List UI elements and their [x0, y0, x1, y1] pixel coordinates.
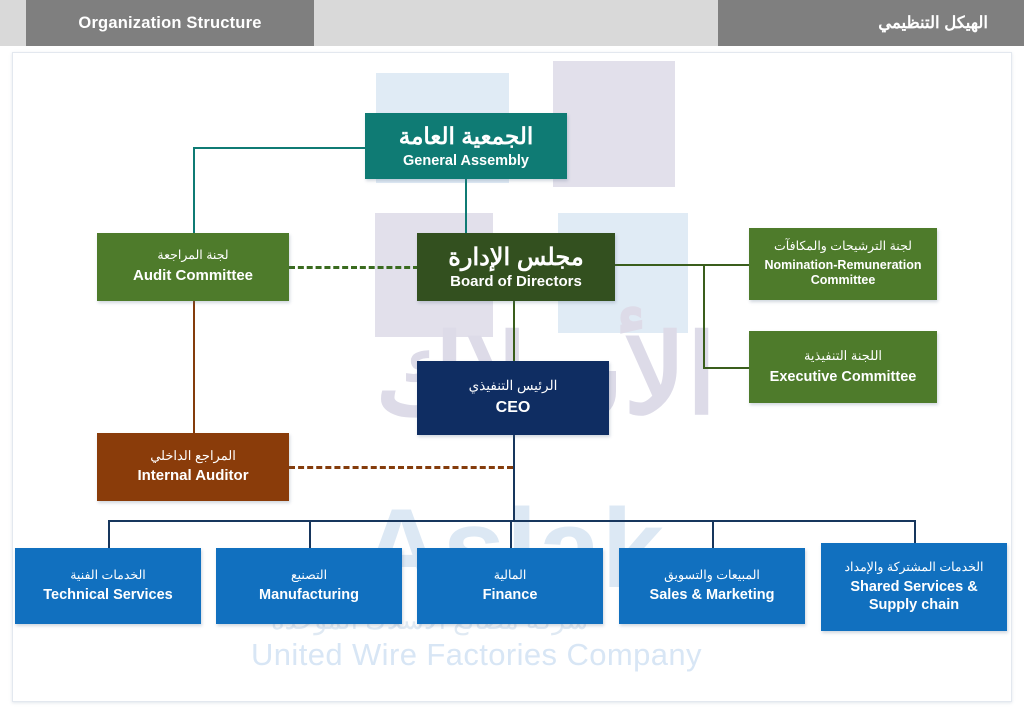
chart-canvas: الأسلاك Aslak شركة مصانع الأسلاك الموحدة…	[12, 52, 1012, 702]
node-general-assembly[interactable]: الجمعية العامة General Assembly	[365, 113, 567, 179]
connector-ga-left-vertical	[193, 147, 195, 235]
org-chart-page: Organization Structure الهيكل التنظيمي ا…	[0, 0, 1024, 714]
node-audit-committee[interactable]: لجنة المراجعة Audit Committee	[97, 233, 289, 301]
connector-drop-dept-2	[510, 520, 512, 548]
node-general-assembly-label-en: General Assembly	[403, 152, 529, 170]
node-executive-committee-label-en: Executive Committee	[770, 368, 917, 386]
connector-drop-dept-4	[914, 520, 916, 543]
node-general-assembly-label-ar: الجمعية العامة	[399, 122, 533, 151]
connector-ga-to-bod	[465, 179, 467, 233]
watermark-block-2	[553, 61, 675, 187]
node-department-technical-services[interactable]: الخدمات الفنية Technical Services	[15, 548, 201, 624]
node-department-2-label-ar: المالية	[494, 568, 527, 584]
node-nomination-remuneration-committee[interactable]: لجنة الترشيحات والمكافآت Nomination-Remu…	[749, 228, 937, 300]
node-internal-auditor-label-en: Internal Auditor	[137, 467, 248, 486]
node-ceo-label-ar: الرئيس التنفيذي	[469, 378, 558, 395]
node-internal-auditor[interactable]: المراجع الداخلي Internal Auditor	[97, 433, 289, 501]
node-board-of-directors[interactable]: مجلس الإدارة Board of Directors	[417, 233, 615, 301]
node-board-of-directors-label-en: Board of Directors	[450, 273, 582, 292]
node-department-sales-marketing[interactable]: المبيعات والتسويق Sales & Marketing	[619, 548, 805, 624]
connector-audit-to-auditor	[193, 301, 195, 435]
node-executive-committee-label-ar: اللجنة التنفيذية	[804, 348, 882, 364]
connector-bod-to-nrc	[615, 264, 749, 266]
node-department-3-label-ar: المبيعات والتسويق	[664, 568, 760, 584]
header-title-right-panel: الهيكل التنظيمي	[718, 0, 1024, 46]
connector-ceo-to-bus	[513, 435, 515, 520]
connector-auditor-to-ceo-dashed	[289, 466, 513, 469]
connector-drop-dept-1	[309, 520, 311, 548]
node-ceo-label-en: CEO	[496, 398, 531, 418]
node-executive-committee[interactable]: اللجنة التنفيذية Executive Committee	[749, 331, 937, 403]
node-department-finance[interactable]: المالية Finance	[417, 548, 603, 624]
connector-bod-to-exec	[703, 367, 749, 369]
page-title-en: Organization Structure	[78, 14, 261, 33]
node-nomination-remuneration-committee-label-en: Nomination-Remuneration Committee	[755, 258, 931, 289]
connector-audit-to-bod-dashed	[289, 266, 419, 269]
node-department-0-label-en: Technical Services	[43, 586, 173, 604]
node-nomination-remuneration-committee-label-ar: لجنة الترشيحات والمكافآت	[774, 239, 912, 255]
page-title-ar: الهيكل التنظيمي	[878, 13, 988, 33]
node-department-manufacturing[interactable]: التصنيع Manufacturing	[216, 548, 402, 624]
page-header: Organization Structure الهيكل التنظيمي	[0, 0, 1024, 46]
connector-drop-dept-0	[108, 520, 110, 548]
header-title-left-panel: Organization Structure	[26, 0, 314, 46]
connector-ga-left-horizontal	[193, 147, 367, 149]
node-audit-committee-label-en: Audit Committee	[133, 267, 253, 286]
node-department-0-label-ar: الخدمات الفنية	[70, 568, 146, 584]
node-department-4-label-ar: الخدمات المشتركة والإمداد	[844, 560, 983, 576]
connector-bod-branch-vertical	[703, 264, 705, 367]
node-ceo[interactable]: الرئيس التنفيذي CEO	[417, 361, 609, 435]
node-department-2-label-en: Finance	[483, 586, 538, 604]
connector-bod-to-ceo	[513, 301, 515, 361]
node-department-4-label-en: Shared Services & Supply chain	[827, 578, 1001, 614]
node-department-shared-services-supply-chain[interactable]: الخدمات المشتركة والإمداد Shared Service…	[821, 543, 1007, 631]
node-department-1-label-ar: التصنيع	[291, 568, 327, 584]
node-department-1-label-en: Manufacturing	[259, 586, 359, 604]
node-internal-auditor-label-ar: المراجع الداخلي	[150, 448, 236, 464]
connector-drop-dept-3	[712, 520, 714, 548]
node-department-3-label-en: Sales & Marketing	[650, 586, 775, 604]
watermark-company-en: United Wire Factories Company	[251, 637, 702, 673]
node-audit-committee-label-ar: لجنة المراجعة	[157, 248, 228, 264]
node-board-of-directors-label-ar: مجلس الإدارة	[448, 243, 583, 273]
